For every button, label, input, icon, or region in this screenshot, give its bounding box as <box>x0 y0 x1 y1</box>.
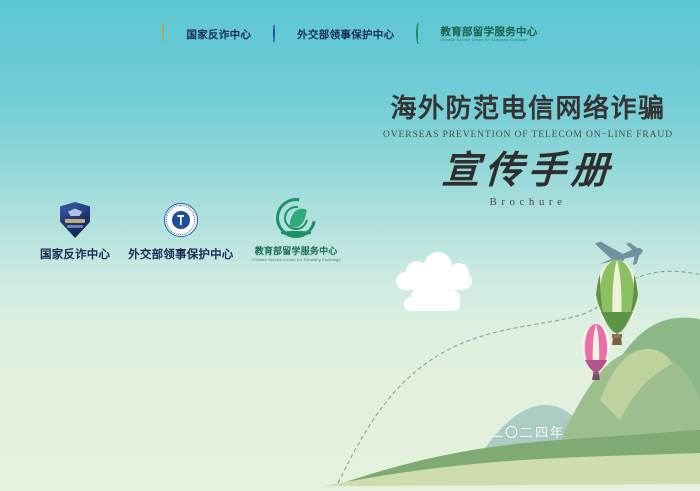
organization-cscse: 教育部留学服务中心 Chinese Service Center for Sch… <box>252 198 341 262</box>
hill-mid-blue <box>455 405 610 491</box>
cscse-c-icon <box>416 25 435 44</box>
header-logo-label-anti-fraud: 国家反诈中心 <box>186 27 251 42</box>
pink-hot-air-balloon <box>582 324 610 380</box>
cloud-upper <box>396 252 472 290</box>
police-shield-icon <box>60 200 90 240</box>
header-logo-anti-fraud: 国家反诈中心 <box>162 25 251 44</box>
organization-anti-fraud: 国家反诈中心 <box>40 200 110 262</box>
organization-logo-row: 国家反诈中心 外交部领事保护中心 教育部留学服务中 <box>40 198 341 262</box>
cscse-logo-icon <box>276 198 316 238</box>
green-hot-air-balloon <box>596 260 638 345</box>
organization-label-anti-fraud: 国家反诈中心 <box>40 246 110 262</box>
airplane-icon <box>593 230 648 284</box>
hill-highlight <box>600 349 672 420</box>
cloud-lower <box>404 282 460 311</box>
publication-year: 二〇二四年 <box>490 422 565 441</box>
title-block: 海外防范电信网络诈骗 OVERSEAS PREVENTION OF TELECO… <box>378 95 678 208</box>
consular-seal-icon <box>164 200 198 240</box>
hill-front-light <box>300 453 700 491</box>
brochure-cover: 国家反诈中心 外交部领事保护中心 教育部留学服务中心 Chinese Servi… <box>0 0 700 491</box>
seal-icon <box>273 25 292 44</box>
page-title: 海外防范电信网络诈骗 <box>378 95 678 125</box>
brochure-title-en: Brochure <box>378 196 678 208</box>
hill-baseline <box>0 484 700 491</box>
organization-label-cscse: 教育部留学服务中心 <box>255 244 338 257</box>
header-logo-bar: 国家反诈中心 外交部领事保护中心 教育部留学服务中心 Chinese Servi… <box>0 20 700 48</box>
organization-consular: 外交部领事保护中心 <box>128 200 233 262</box>
organization-sublabel-cscse: Chinese Service Center for Scholarly Exc… <box>252 258 341 262</box>
header-logo-sublabel-cscse: Chinese Service Center for Scholarly Exc… <box>440 39 537 43</box>
header-logo-consular: 外交部领事保护中心 <box>273 25 394 44</box>
organization-label-consular: 外交部领事保护中心 <box>128 246 233 262</box>
shield-icon <box>162 25 181 44</box>
header-logo-label-cscse: 教育部留学服务中心 <box>440 27 537 38</box>
flight-trail <box>338 271 700 483</box>
page-subtitle-en: OVERSEAS PREVENTION OF TELECOM ON−LINE F… <box>378 130 678 140</box>
header-logo-label-consular: 外交部领事保护中心 <box>297 27 394 42</box>
header-logo-cscse: 教育部留学服务中心 Chinese Service Center for Sch… <box>416 25 537 44</box>
header-logo-cscse-text: 教育部留学服务中心 Chinese Service Center for Sch… <box>440 27 537 42</box>
hill-back-green <box>470 318 700 491</box>
brochure-title-cn: 宣传手册 <box>377 151 679 189</box>
hill-mid-green <box>545 350 700 491</box>
